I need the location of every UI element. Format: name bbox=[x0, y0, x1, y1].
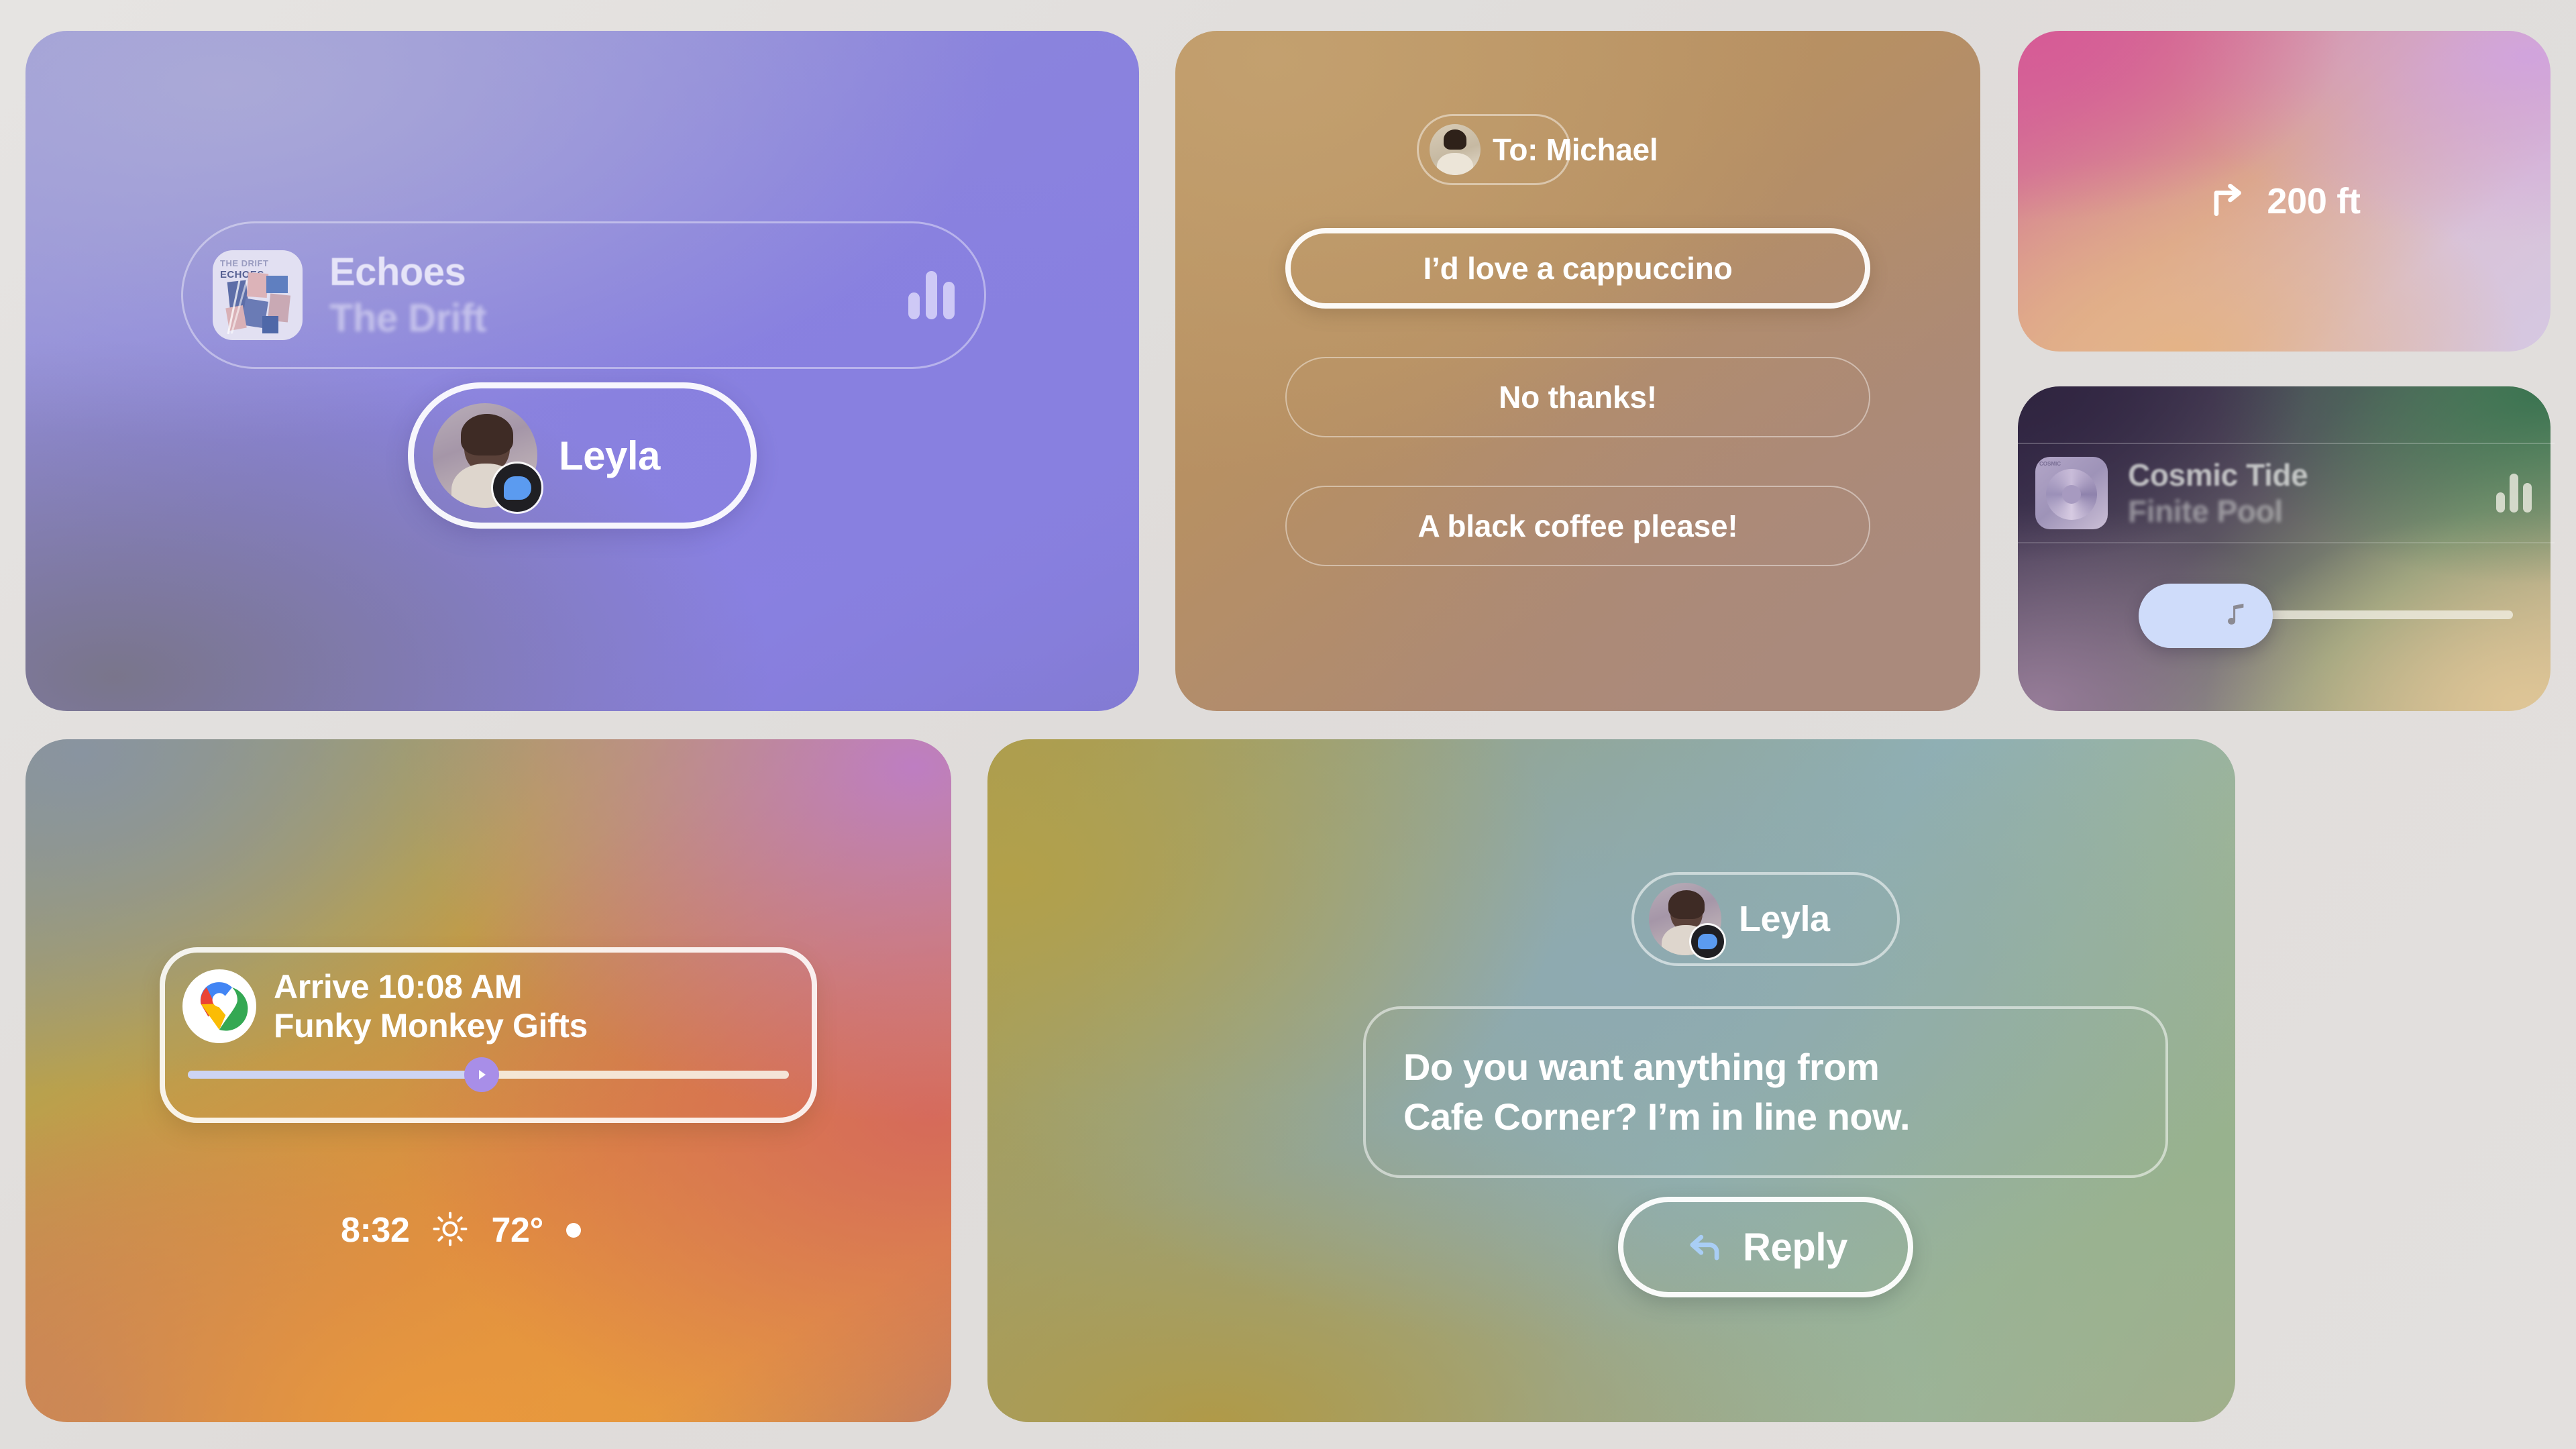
track-artist: The Drift bbox=[329, 296, 486, 341]
avatar bbox=[433, 403, 537, 508]
maps-navigation-chip[interactable]: Arrive 10:08 AM Funky Monkey Gifts bbox=[160, 947, 817, 1123]
album-art-label-top: THE DRIFT bbox=[220, 258, 268, 268]
track-info: Echoes The Drift bbox=[329, 250, 486, 341]
recipient-label: To: Michael bbox=[1493, 131, 1658, 168]
maps-arrival-time: Arrive 10:08 AM bbox=[274, 967, 588, 1006]
reply-option-label: No thanks! bbox=[1499, 379, 1657, 415]
contact-pill-leyla[interactable]: Leyla bbox=[408, 382, 757, 529]
now-playing-chip-secondary[interactable]: COSMIC Cosmic Tide Finite Pool bbox=[2018, 443, 2555, 543]
reply-button[interactable]: Reply bbox=[1618, 1197, 1913, 1297]
track-artist: Finite Pool bbox=[2128, 493, 2308, 529]
recipient-pill[interactable]: To: Michael bbox=[1417, 114, 1571, 185]
reply-option-label: A black coffee please! bbox=[1417, 508, 1737, 544]
equalizer-icon bbox=[908, 271, 955, 319]
now-playing-card[interactable] bbox=[25, 31, 1139, 711]
album-art: COSMIC bbox=[2035, 457, 2108, 529]
message-line-2: Cafe Corner? I’m in line now. bbox=[1403, 1094, 2128, 1140]
status-time: 8:32 bbox=[341, 1210, 409, 1250]
progress-fill bbox=[188, 1071, 476, 1079]
track-title: Cosmic Tide bbox=[2128, 457, 2308, 493]
seek-thumb[interactable] bbox=[2139, 584, 2273, 648]
navigation-maneuver-row: 200 ft bbox=[2018, 171, 2551, 231]
sun-icon bbox=[432, 1211, 468, 1250]
widget-canvas: THE DRIFT ECHOES Echoes The Drift Leyla … bbox=[0, 0, 2576, 1449]
reply-button-label: Reply bbox=[1743, 1225, 1847, 1270]
maps-text: Arrive 10:08 AM Funky Monkey Gifts bbox=[274, 967, 588, 1045]
status-dot-icon bbox=[566, 1223, 581, 1238]
track-info: Cosmic Tide Finite Pool bbox=[2128, 457, 2308, 529]
album-art-label: COSMIC bbox=[2039, 461, 2061, 468]
turn-right-icon bbox=[2208, 179, 2249, 224]
sender-name: Leyla bbox=[1739, 898, 1830, 940]
maps-progress-slider[interactable] bbox=[188, 1057, 789, 1092]
navigation-distance: 200 ft bbox=[2267, 180, 2360, 222]
reply-option-1[interactable]: No thanks! bbox=[1285, 357, 1870, 437]
music-note-icon bbox=[2222, 598, 2253, 635]
reply-option-0[interactable]: I’d love a cappuccino bbox=[1285, 228, 1870, 309]
messages-badge-icon bbox=[493, 464, 541, 512]
status-temperature: 72° bbox=[491, 1210, 543, 1250]
seek-bar-secondary[interactable] bbox=[2018, 576, 2551, 656]
track-title: Echoes bbox=[329, 250, 486, 294]
reply-option-label: I’d love a cappuccino bbox=[1423, 250, 1732, 286]
message-line-1: Do you want anything from bbox=[1403, 1044, 2128, 1090]
seek-track[interactable] bbox=[2234, 610, 2513, 619]
album-art: THE DRIFT ECHOES bbox=[213, 250, 303, 340]
maps-destination: Funky Monkey Gifts bbox=[274, 1006, 588, 1045]
messages-badge-icon bbox=[1691, 925, 1725, 959]
now-playing-chip[interactable]: THE DRIFT ECHOES Echoes The Drift bbox=[181, 221, 986, 369]
avatar bbox=[1430, 124, 1481, 175]
message-bubble: Do you want anything from Cafe Corner? I… bbox=[1363, 1006, 2168, 1178]
play-triangle-icon[interactable] bbox=[464, 1057, 499, 1092]
equalizer-icon bbox=[2496, 474, 2532, 513]
sender-pill-leyla[interactable]: Leyla bbox=[1631, 872, 1900, 966]
contact-name: Leyla bbox=[559, 433, 660, 479]
avatar bbox=[1649, 883, 1721, 955]
now-playing-card-secondary[interactable] bbox=[2018, 386, 2551, 711]
reply-option-2[interactable]: A black coffee please! bbox=[1285, 486, 1870, 566]
google-maps-pin-icon bbox=[182, 969, 256, 1043]
maps-status-row: 8:32 72° bbox=[160, 1203, 817, 1257]
reply-arrow-icon bbox=[1684, 1225, 1725, 1270]
